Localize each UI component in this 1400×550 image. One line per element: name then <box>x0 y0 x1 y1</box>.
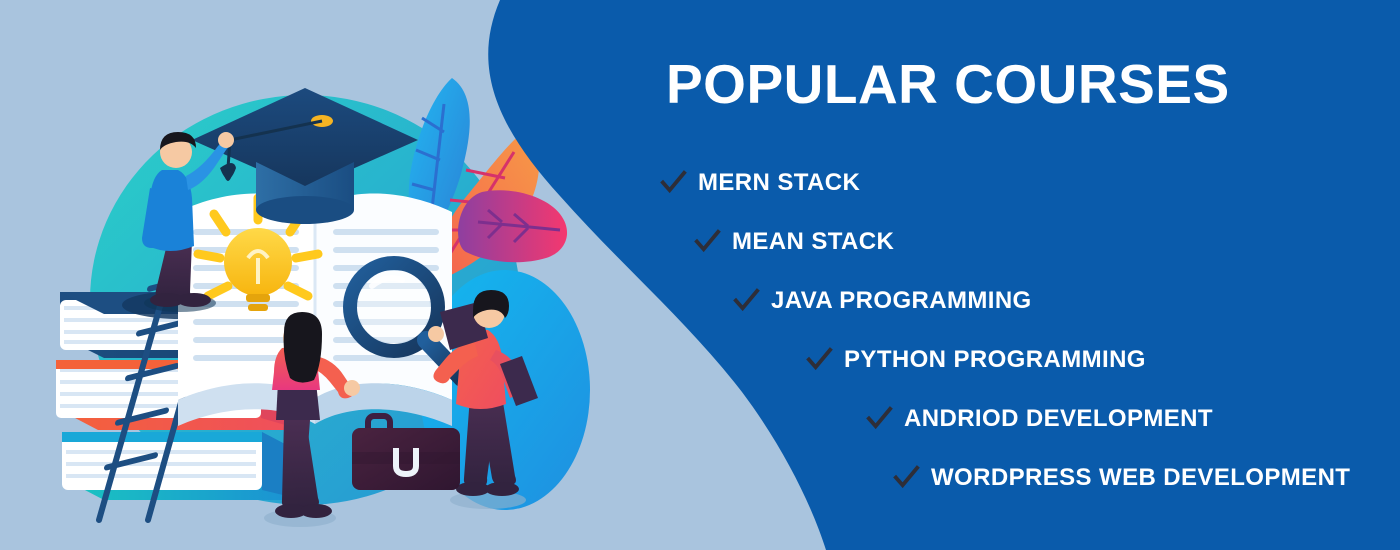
check-icon <box>660 169 687 196</box>
course-label: MERN STACK <box>698 169 860 197</box>
check-icon <box>866 405 893 432</box>
check-icon <box>733 287 760 314</box>
check-icon <box>806 346 833 373</box>
list-item-andriod-development[interactable]: ANDRIOD DEVELOPMENT <box>0 389 1400 448</box>
list-item-python-programming[interactable]: PYTHON PROGRAMMING <box>0 330 1400 389</box>
check-icon <box>694 228 721 255</box>
course-label: MEAN STACK <box>732 228 894 256</box>
course-list: MERN STACK MEAN STACK JAVA PROGRAMMING P… <box>0 153 1400 507</box>
page-title: POPULAR COURSES <box>666 52 1230 116</box>
list-item-java-programming[interactable]: JAVA PROGRAMMING <box>0 271 1400 330</box>
check-icon <box>893 464 920 491</box>
course-label: ANDRIOD DEVELOPMENT <box>904 405 1213 433</box>
list-item-wordpress-web-development[interactable]: WORDPRESS WEB DEVELOPMENT <box>0 448 1400 507</box>
popular-courses-banner: POPULAR COURSES MERN STACK MEAN STACK JA… <box>0 0 1400 550</box>
courses-content: POPULAR COURSES MERN STACK MEAN STACK JA… <box>0 0 1400 550</box>
course-label: JAVA PROGRAMMING <box>771 287 1032 315</box>
list-item-mern-stack[interactable]: MERN STACK <box>0 153 1400 212</box>
list-item-mean-stack[interactable]: MEAN STACK <box>0 212 1400 271</box>
course-label: WORDPRESS WEB DEVELOPMENT <box>931 464 1350 492</box>
course-label: PYTHON PROGRAMMING <box>844 346 1146 374</box>
